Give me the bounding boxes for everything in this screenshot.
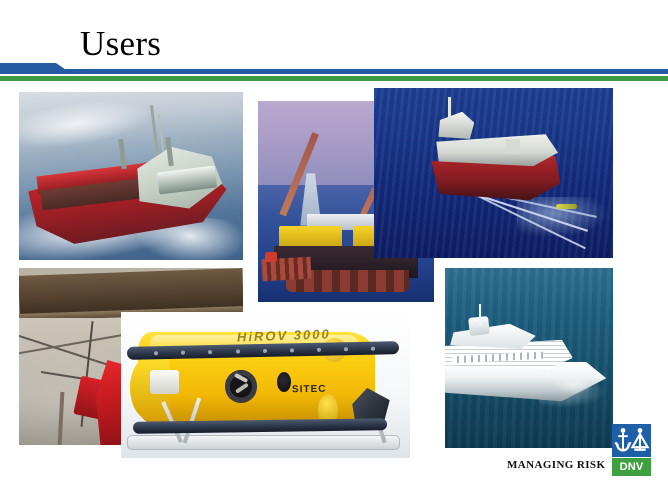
rig-yellow-deck: [279, 226, 342, 248]
ship-mast: [479, 304, 481, 326]
rov-maker-label: SITEC: [291, 383, 326, 395]
rov-launch-skid: [127, 435, 401, 450]
tail-buoy: [556, 204, 578, 209]
ship-funnel: [505, 139, 519, 154]
photo-seismic-vessel: [374, 88, 613, 258]
photo-supply-vessel: [19, 92, 243, 260]
ship-wake: [517, 197, 608, 238]
title-divider: [0, 63, 668, 81]
photo-cruise-ship: [445, 268, 613, 448]
support-tug: [265, 252, 277, 262]
bow-wash: [553, 376, 593, 394]
dnv-logo-wordmark-panel: DNV: [612, 458, 651, 476]
dnv-wordmark: DNV: [620, 462, 644, 473]
divider-blue-thick-segment: [0, 63, 56, 74]
ship-mast: [448, 97, 451, 121]
divider-green-line: [0, 76, 668, 81]
footer-tagline: MANAGING RISK: [507, 459, 605, 471]
slide-canvas: Users: [0, 0, 668, 500]
photo-rov: HiROV 3000 SITEC: [121, 312, 410, 458]
anchor-and-scales-icon: [612, 424, 651, 457]
rov-sensor-pod: [150, 370, 179, 393]
page-title: Users: [80, 24, 161, 64]
dnv-logo-symbol-panel: [612, 424, 651, 457]
dnv-logo: DNV: [612, 424, 651, 476]
